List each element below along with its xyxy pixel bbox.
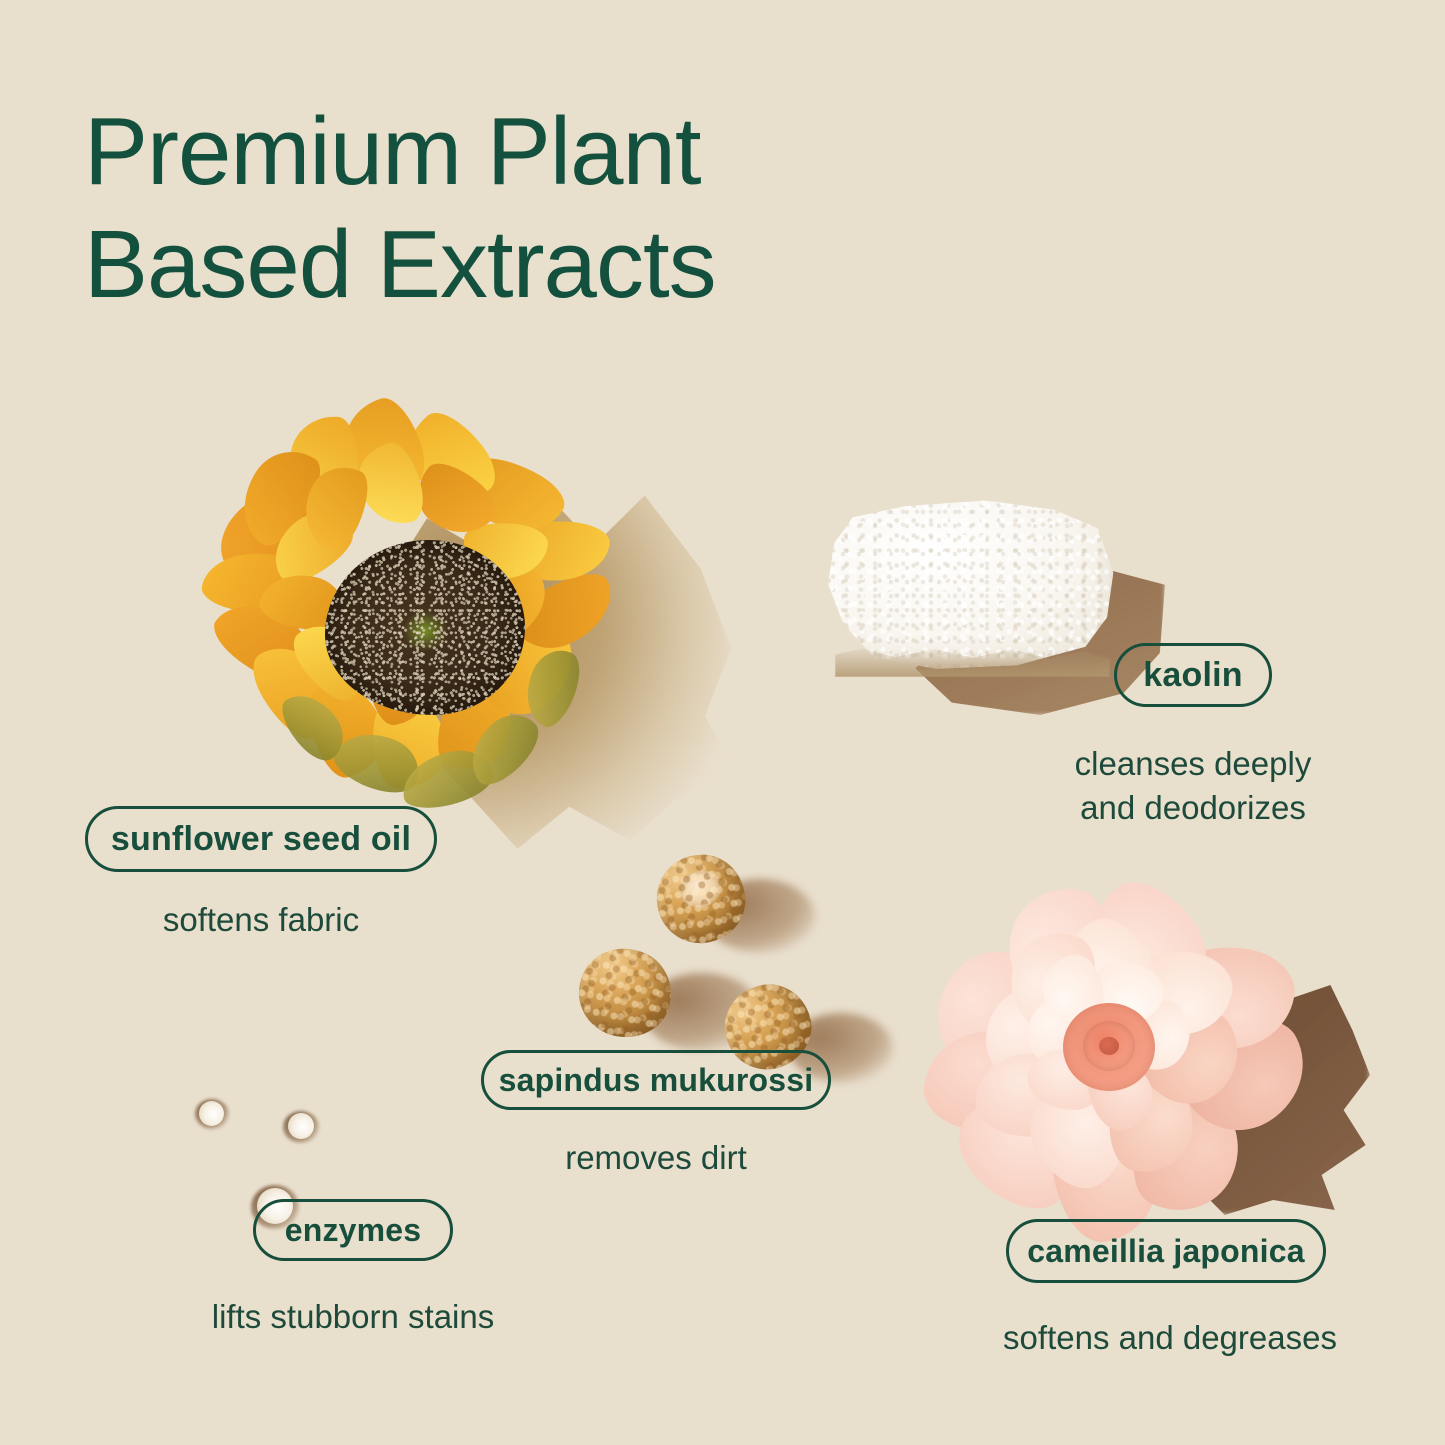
camellia-center-bud — [1063, 1003, 1155, 1091]
label-sapindus-mukurossi[interactable]: sapindus mukurossi — [481, 1050, 831, 1110]
label-kaolin[interactable]: kaolin — [1114, 643, 1272, 707]
label-cameillia-japonica[interactable]: cameillia japonica — [1006, 1219, 1326, 1283]
soapberries-photo — [565, 845, 865, 1065]
enzyme-granule — [199, 1101, 224, 1126]
page-title: Premium Plant Based Extracts — [84, 95, 984, 322]
camellia-flower-photo — [925, 885, 1325, 1225]
sunflower-seed-disc — [325, 540, 525, 715]
caption-cameillia-japonica: softens and degreases — [1000, 1316, 1340, 1360]
soapberry — [571, 940, 679, 1045]
caption-kaolin: cleanses deeply and deodorizes — [1020, 742, 1366, 829]
soapberry — [651, 849, 750, 948]
caption-sapindus-mukurossi: removes dirt — [481, 1136, 831, 1180]
caption-sunflower-seed-oil: softens fabric — [85, 898, 437, 942]
label-sunflower-seed-oil[interactable]: sunflower seed oil — [85, 806, 437, 872]
label-enzymes[interactable]: enzymes — [253, 1199, 453, 1261]
kaolin-clay-rock-photo — [825, 495, 1155, 710]
sunflower-photo — [195, 405, 655, 855]
enzyme-granule — [288, 1113, 314, 1139]
caption-enzymes: lifts stubborn stains — [183, 1295, 523, 1339]
plant-extracts-infographic: Premium Plant Based Extracts — [0, 0, 1445, 1445]
